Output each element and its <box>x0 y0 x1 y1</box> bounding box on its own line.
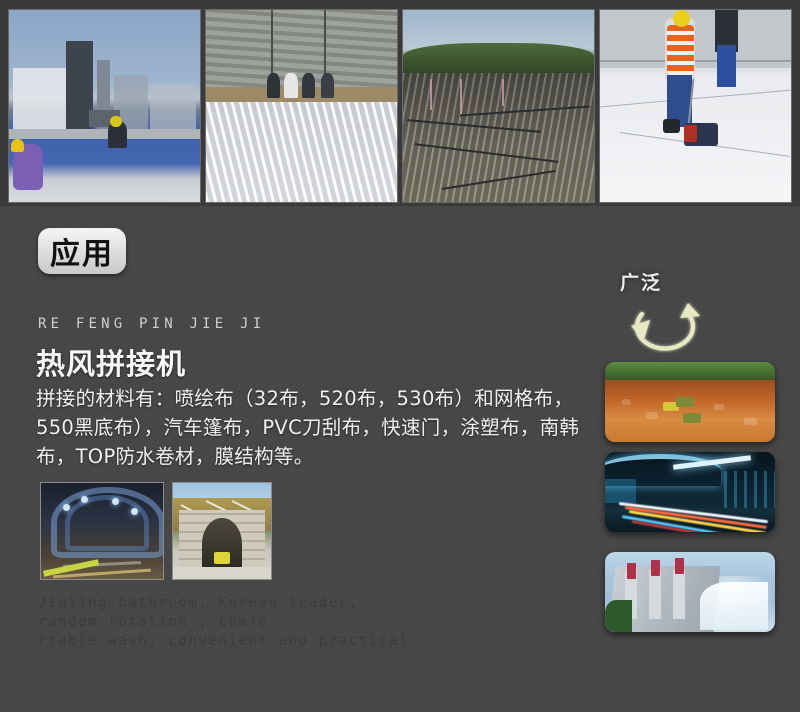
dam-pier <box>649 570 661 620</box>
circular-rotation-arrow-icon <box>622 290 712 360</box>
english-caption: Jiuling bathroom, Korean leader, random … <box>38 594 458 651</box>
rock-debris <box>744 418 757 425</box>
roof-ledge <box>9 129 200 139</box>
gantry-crane <box>651 560 660 576</box>
hard-hat <box>11 139 24 152</box>
application-photo-strip <box>0 0 800 206</box>
liner-seam <box>502 79 504 106</box>
english-caption-line: random rotation , comfo <box>38 613 458 632</box>
materials-paragraph: 拼接的材料有：喷绘布（32布，520布，530布）和网格布，550黑底布），汽车… <box>36 384 598 471</box>
photo-rooftop-waterproofing <box>8 9 201 203</box>
gantry-crane <box>627 563 636 579</box>
vehicle <box>214 552 230 564</box>
rock-debris <box>646 412 658 419</box>
tunnel-wall-right <box>724 471 775 508</box>
welding-machine-body <box>684 125 697 142</box>
work-boot <box>663 119 680 132</box>
worker-figure <box>321 73 334 98</box>
application-page: 应用 RE FENG PIN JIE JI 热风拼接机 拼接的材料有：喷绘布（3… <box>0 0 800 712</box>
page-title: 热风拼接机 <box>36 341 186 383</box>
metro-tunnel-art <box>41 483 163 579</box>
safety-vest <box>667 25 694 75</box>
thumb-metro-tunnel-interior <box>40 482 164 580</box>
hard-hat <box>673 10 690 27</box>
bystander-legs <box>717 45 736 87</box>
liner-seam <box>460 79 462 114</box>
quarry-art <box>605 362 775 442</box>
tunnel-ceiling-light <box>605 454 721 486</box>
approach-road <box>173 567 271 579</box>
excavator <box>683 413 701 423</box>
stone-portal-art <box>173 483 271 579</box>
building-shape <box>13 68 70 133</box>
highway-tunnel-art <box>605 452 775 532</box>
forested-hill <box>403 43 594 76</box>
photo-pond-liner-pipes <box>402 9 595 203</box>
hillside-vegetation <box>605 362 775 380</box>
worker-figure <box>284 73 297 98</box>
worker-figure <box>302 73 315 98</box>
rock-debris <box>622 399 631 405</box>
tunnel-arch-inner <box>65 495 148 551</box>
spillway-discharge <box>700 582 768 630</box>
hydro-dam-art <box>605 552 775 632</box>
worker-figure <box>267 73 280 98</box>
dam-pier <box>673 570 685 620</box>
photo-retaining-wall-liner <box>205 9 398 203</box>
thumb-hydro-dam <box>605 552 775 632</box>
pinyin-subtitle: RE FENG PIN JIE JI <box>38 316 265 332</box>
excavator <box>676 397 694 407</box>
building-shape <box>150 83 196 133</box>
photo-hot-air-welder-operator <box>599 9 792 203</box>
guard-rail <box>600 60 791 62</box>
section-badge: 应用 <box>38 228 126 274</box>
hard-hat <box>110 116 121 128</box>
rock-debris <box>714 404 724 410</box>
english-caption-line: Jiuling bathroom, Korean leader, <box>38 594 458 613</box>
riverside-trees <box>605 600 632 632</box>
gantry-crane <box>675 558 684 574</box>
thumb-quarry-mining <box>605 362 775 442</box>
tunnel-lamp <box>63 504 70 511</box>
english-caption-line: rtable wash, convenient and practical <box>38 632 458 651</box>
thumb-stone-tunnel-portal <box>172 482 272 580</box>
section-badge-label: 应用 <box>50 229 114 273</box>
thumb-highway-tunnel <box>605 452 775 532</box>
liner-seam <box>430 79 432 110</box>
geomembrane-liner <box>206 102 397 202</box>
membrane-seam <box>600 90 790 108</box>
